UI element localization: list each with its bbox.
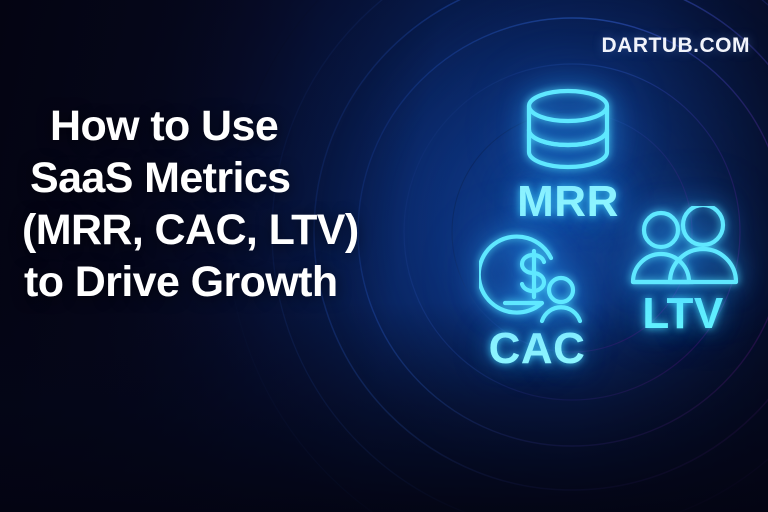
dollar-circle-person-icon	[462, 225, 612, 325]
metric-ltv: LTV	[618, 206, 748, 336]
metric-cac: CAC	[462, 225, 612, 371]
metric-mrr: MRR	[488, 84, 648, 224]
two-users-icon	[618, 206, 748, 290]
metric-cac-label: CAC	[462, 327, 612, 371]
metric-ltv-label: LTV	[618, 292, 748, 336]
metric-icon-cluster: MRR CAC	[0, 0, 768, 512]
poster-canvas: DARTUB.COM How to Use SaaS Metrics (MRR,…	[0, 0, 768, 512]
database-stack-icon	[488, 84, 648, 176]
